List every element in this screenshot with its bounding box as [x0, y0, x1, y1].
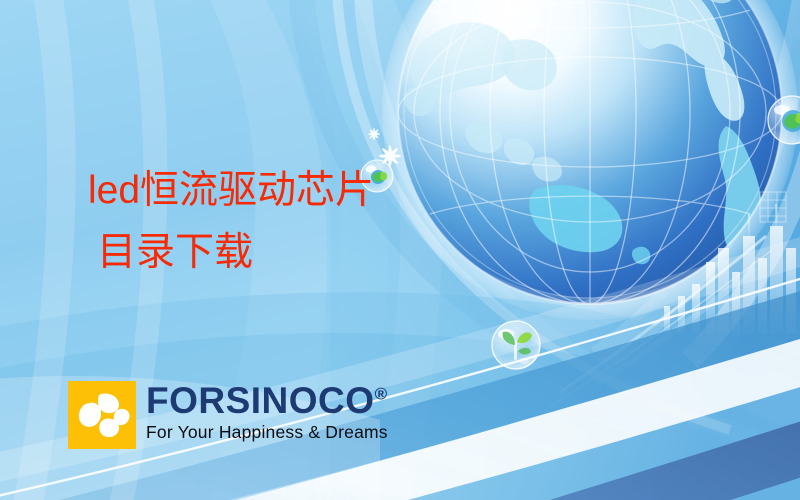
- brand-wordmark: FORSINOCO®: [146, 382, 388, 420]
- bubble-globe-small: [361, 160, 393, 192]
- brand-name: FORSINOCO: [146, 380, 375, 421]
- promo-banner: led恒流驱动芯片 目录下载 FORSINOCO® For Your Happi…: [0, 0, 800, 500]
- registered-trademark-icon: ®: [375, 385, 388, 404]
- sparkle-asterisk-small: [368, 128, 380, 140]
- brand-tagline: For Your Happiness & Dreams: [146, 421, 388, 443]
- bubble-sprout: [492, 321, 540, 369]
- brand-logo: FORSINOCO® For Your Happiness & Dreams: [68, 381, 388, 449]
- logo-text-block: FORSINOCO® For Your Happiness & Dreams: [146, 381, 388, 443]
- forsinoco-pinwheel-mark: [68, 381, 136, 449]
